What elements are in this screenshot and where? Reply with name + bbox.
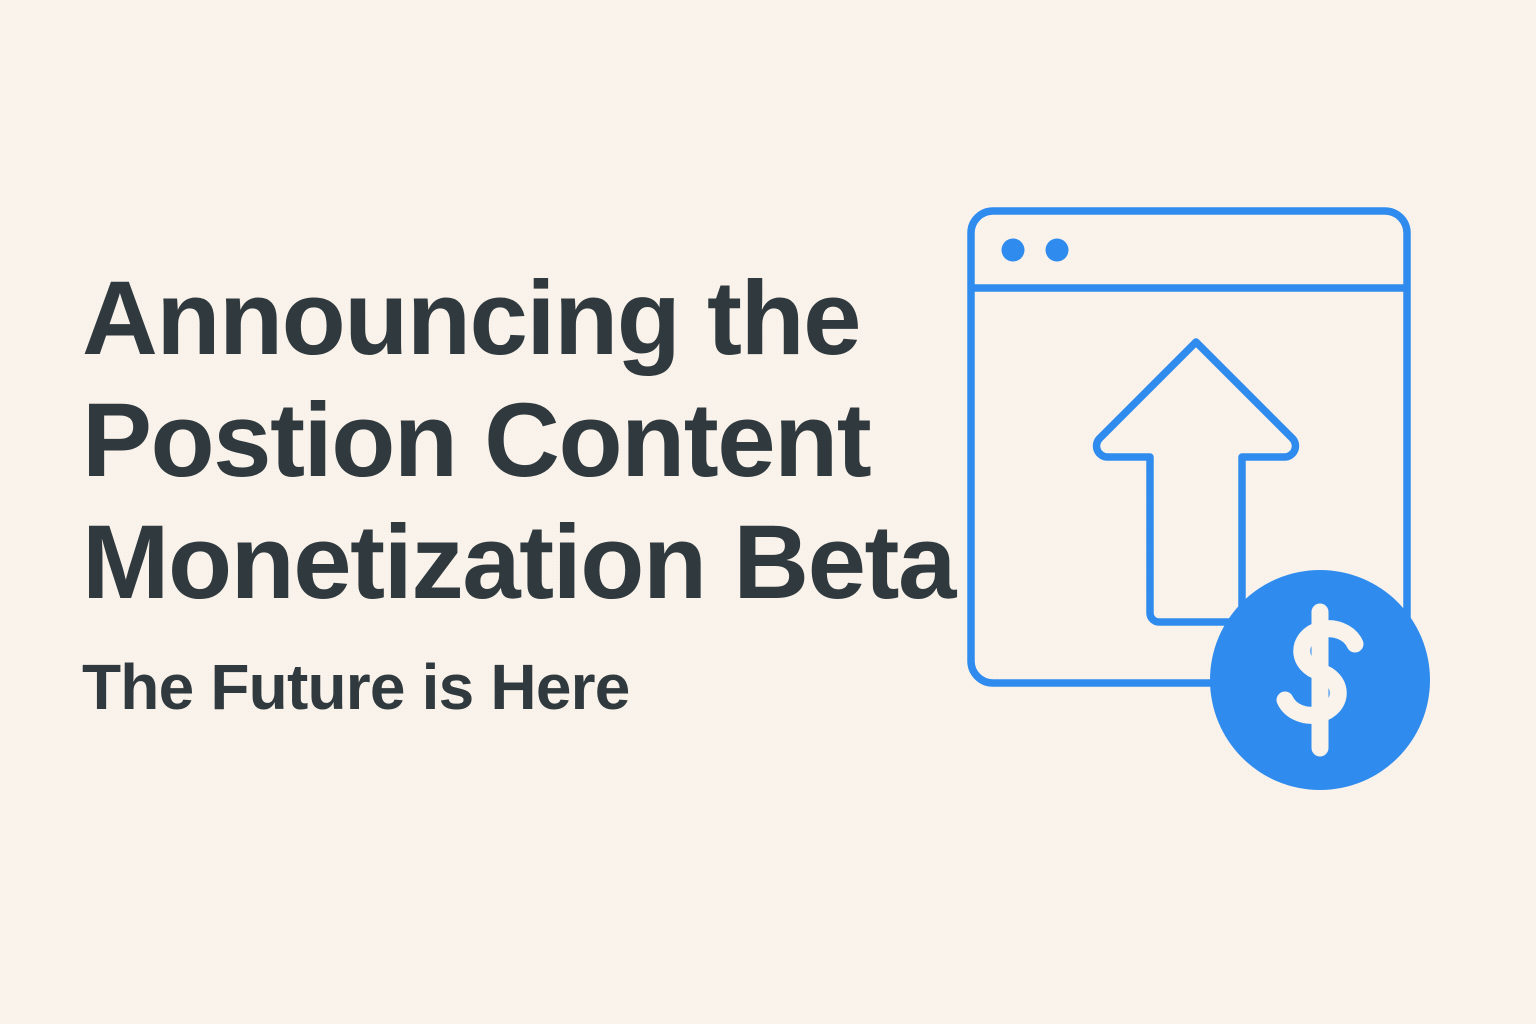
headline-line-3: Monetization Beta xyxy=(82,502,1002,624)
monetization-illustration xyxy=(940,180,1460,820)
page-title: Announcing the Postion Content Monetizat… xyxy=(82,258,1002,624)
headline-line-1: Announcing the xyxy=(82,258,1002,380)
headline-line-2: Postion Content xyxy=(82,380,1002,502)
text-block: Announcing the Postion Content Monetizat… xyxy=(82,258,1002,724)
dollar-badge-icon xyxy=(1210,570,1430,790)
page-subtitle: The Future is Here xyxy=(82,650,1002,724)
announcement-banner: Announcing the Postion Content Monetizat… xyxy=(0,0,1536,1024)
illustration-svg xyxy=(940,180,1460,820)
browser-dot-1-icon xyxy=(1002,239,1025,262)
browser-dot-2-icon xyxy=(1046,239,1069,262)
upload-arrow-icon xyxy=(1097,342,1296,622)
